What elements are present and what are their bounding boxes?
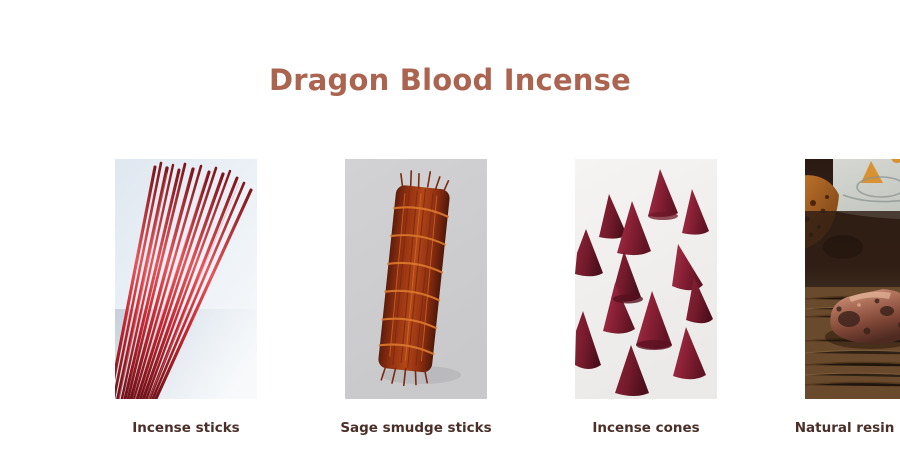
- caption-incense-sticks: Incense sticks: [132, 420, 239, 436]
- sage-smudge-sticks-photo[interactable]: [345, 159, 487, 399]
- caption-sage-smudge-sticks: Sage smudge sticks: [340, 420, 491, 436]
- gallery-item-incense-cones[interactable]: Incense cones: [575, 159, 717, 436]
- gallery-item-sage-smudge-sticks[interactable]: Sage smudge sticks: [345, 159, 487, 436]
- page-title: Dragon Blood Incense: [0, 63, 900, 97]
- gallery-item-incense-sticks[interactable]: Incense sticks: [115, 159, 257, 436]
- natural-resin-incense-photo[interactable]: [805, 159, 900, 399]
- page-root: Dragon Blood Incense: [0, 0, 900, 471]
- gallery-item-natural-resin-incense[interactable]: Natural resin incense: [805, 159, 900, 436]
- caption-natural-resin-incense: Natural resin incense: [795, 420, 900, 436]
- incense-cones-photo[interactable]: [575, 159, 717, 399]
- caption-incense-cones: Incense cones: [592, 420, 699, 436]
- incense-sticks-photo[interactable]: [115, 159, 257, 399]
- image-gallery: Incense sticks: [75, 143, 825, 452]
